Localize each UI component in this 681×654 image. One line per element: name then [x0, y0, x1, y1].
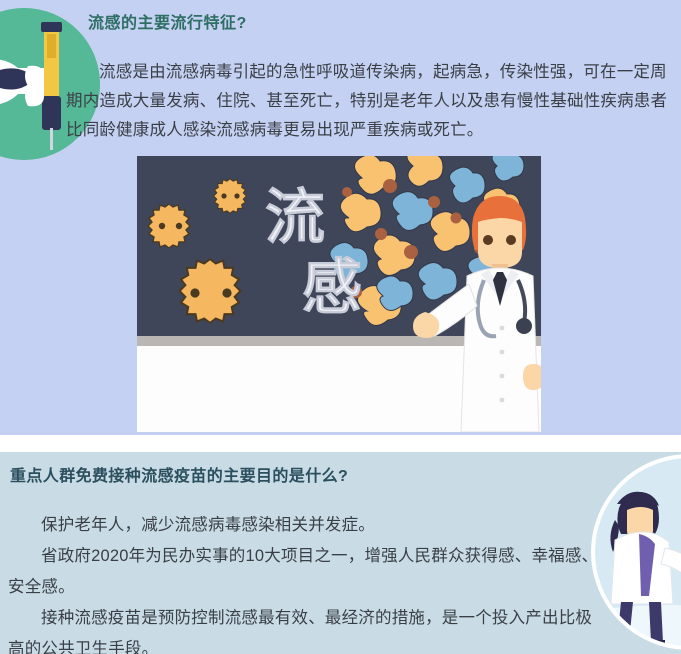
svg-text:感: 感 — [302, 254, 362, 321]
vaccination-purpose-paragraph-3: 接种流感疫苗是预防控制流感最有效、最经济的措施，是一个投入产出比极高的公共卫生手… — [8, 603, 600, 654]
doctor-and-elderly-person-illustration — [591, 454, 681, 650]
article-page: 流感的主要流行特征? 流感是由流感病毒引起的急性呼吸道传染病，起病急，传染性强，… — [0, 0, 681, 654]
vaccination-purpose-paragraph-1: 保护老年人，减少流感病毒感染相关并发症。 — [8, 510, 600, 541]
section-one-heading-wrap: 流感的主要流行特征? — [88, 10, 673, 44]
page-title: 流感的主要流行特征? — [88, 10, 673, 38]
flu-board-doctor-photo: 流 感 — [137, 156, 541, 432]
section-one-paragraph-wrap: 流感是由流感病毒引起的急性呼吸道传染病，起病急，传染性强，可在一定周期内造成大量… — [66, 58, 674, 145]
section-vaccination-purpose: 重点人群免费接种流感疫苗的主要目的是什么? 保护老年人，减少流感病毒感染相关并发… — [0, 452, 681, 654]
section-two-paragraph-wrap: 保护老年人，减少流感病毒感染相关并发症。 省政府2020年为民办实事的10大项目… — [8, 510, 600, 654]
section-flu-characteristics: 流感的主要流行特征? 流感是由流感病毒引起的急性呼吸道传染病，起病急，传染性强，… — [0, 0, 681, 435]
vaccination-purpose-paragraph-2: 省政府2020年为民办实事的10大项目之一，增强人民群众获得感、幸福感、安全感。 — [8, 541, 600, 603]
flu-characteristics-paragraph: 流感是由流感病毒引起的急性呼吸道传染病，起病急，传染性强，可在一定周期内造成大量… — [66, 58, 674, 145]
section-two-title: 重点人群免费接种流感疫苗的主要目的是什么? — [10, 464, 348, 490]
svg-text:流: 流 — [265, 184, 325, 251]
